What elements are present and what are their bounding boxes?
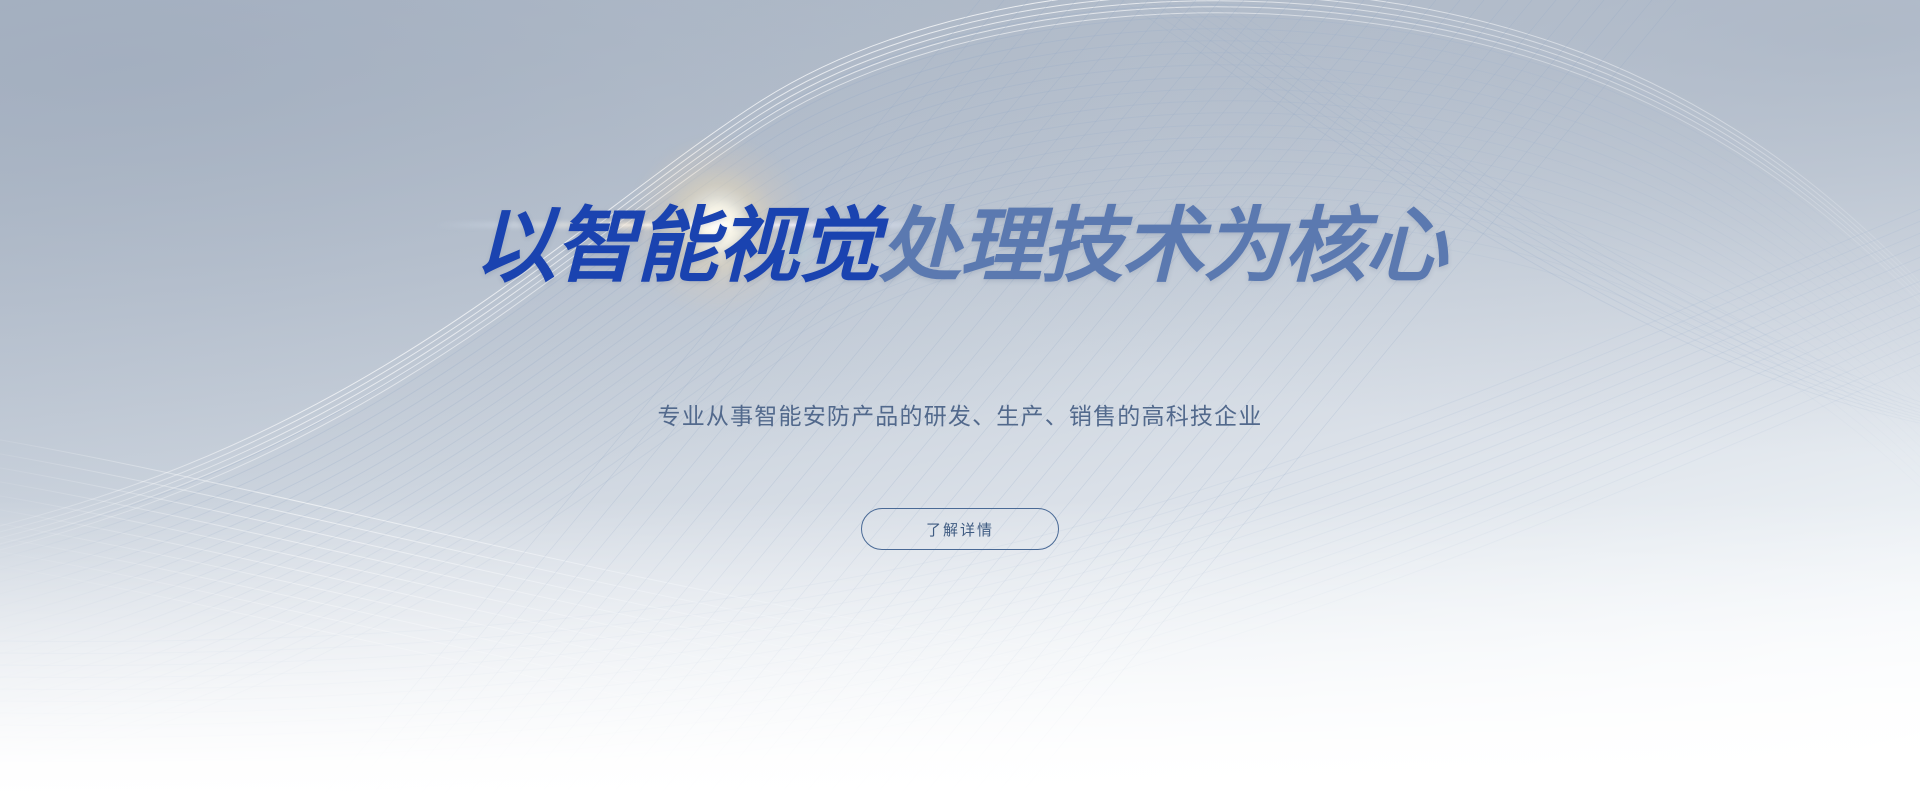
learn-more-button[interactable]: 了解详情 <box>861 508 1059 550</box>
page-title: 以智能视觉处理技术为核心 <box>474 206 1446 288</box>
page-subtitle: 专业从事智能安防产品的研发、生产、销售的高科技企业 <box>658 400 1263 432</box>
headline-segment-muted: 处理技术为核心 <box>879 199 1446 294</box>
headline-segment-strong: 以智能视觉 <box>474 199 879 294</box>
hero-banner: 以智能视觉处理技术为核心 专业从事智能安防产品的研发、生产、销售的高科技企业 了… <box>0 0 1920 800</box>
